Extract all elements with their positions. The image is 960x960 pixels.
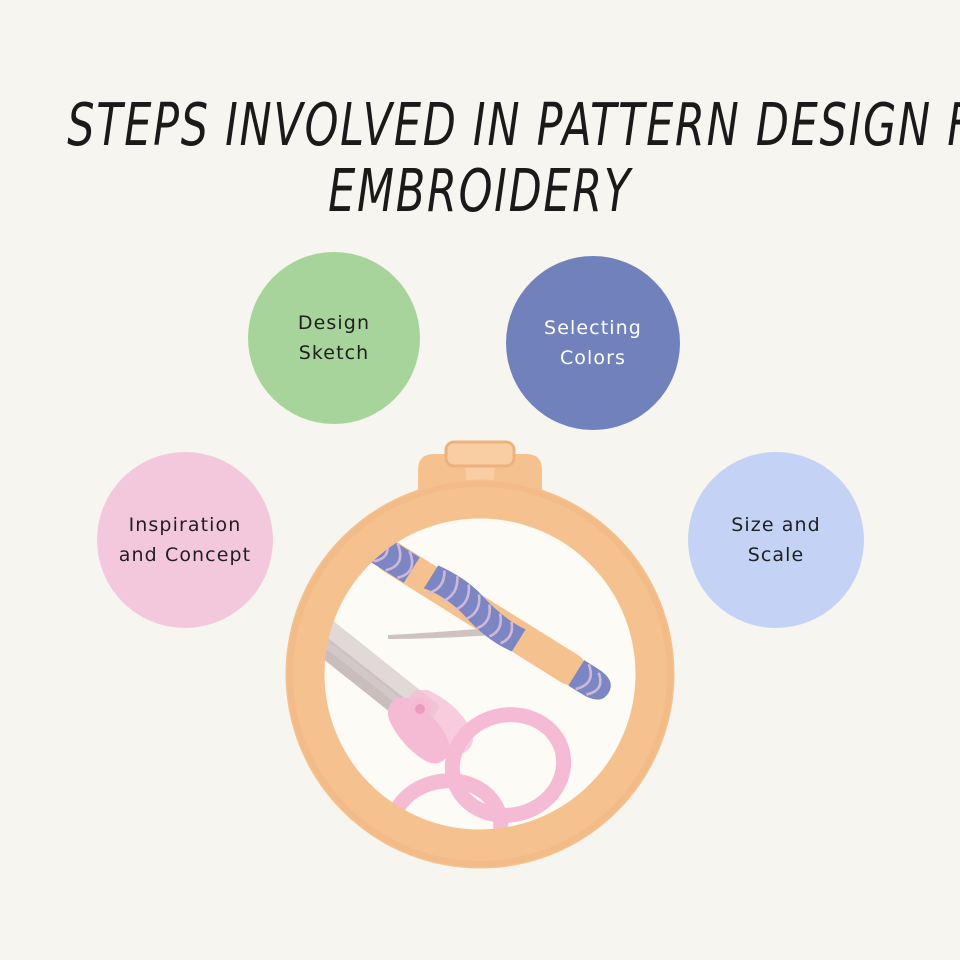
- title-line-2: Embroidery: [67, 152, 893, 230]
- step-circle-inspiration-and-concept[interactable]: Inspiration and Concept: [97, 452, 273, 628]
- step-label-design-sketch-line1: Design: [298, 308, 370, 338]
- step-label-size-scale-line1: Size and: [731, 510, 821, 540]
- step-label-selecting-colors-line1: Selecting: [544, 313, 642, 343]
- step-circle-design-sketch[interactable]: Design Sketch: [248, 252, 420, 424]
- step-label-inspiration-line1: Inspiration: [129, 510, 242, 540]
- step-circle-selecting-colors[interactable]: Selecting Colors: [506, 256, 680, 430]
- title-line-1: Steps Involved in Pattern Design for: [67, 86, 893, 164]
- step-circle-size-and-scale[interactable]: Size and Scale: [688, 452, 864, 628]
- step-label-inspiration-line2: and Concept: [119, 540, 251, 570]
- step-label-selecting-colors-line2: Colors: [560, 343, 626, 373]
- step-label-size-scale-line2: Scale: [748, 540, 805, 570]
- embroidery-hoop-illustration: [270, 428, 690, 884]
- page-title: Steps Involved in Pattern Design for Emb…: [0, 92, 960, 224]
- step-label-design-sketch-line2: Sketch: [299, 338, 370, 368]
- infographic-poster: Steps Involved in Pattern Design for Emb…: [0, 0, 960, 960]
